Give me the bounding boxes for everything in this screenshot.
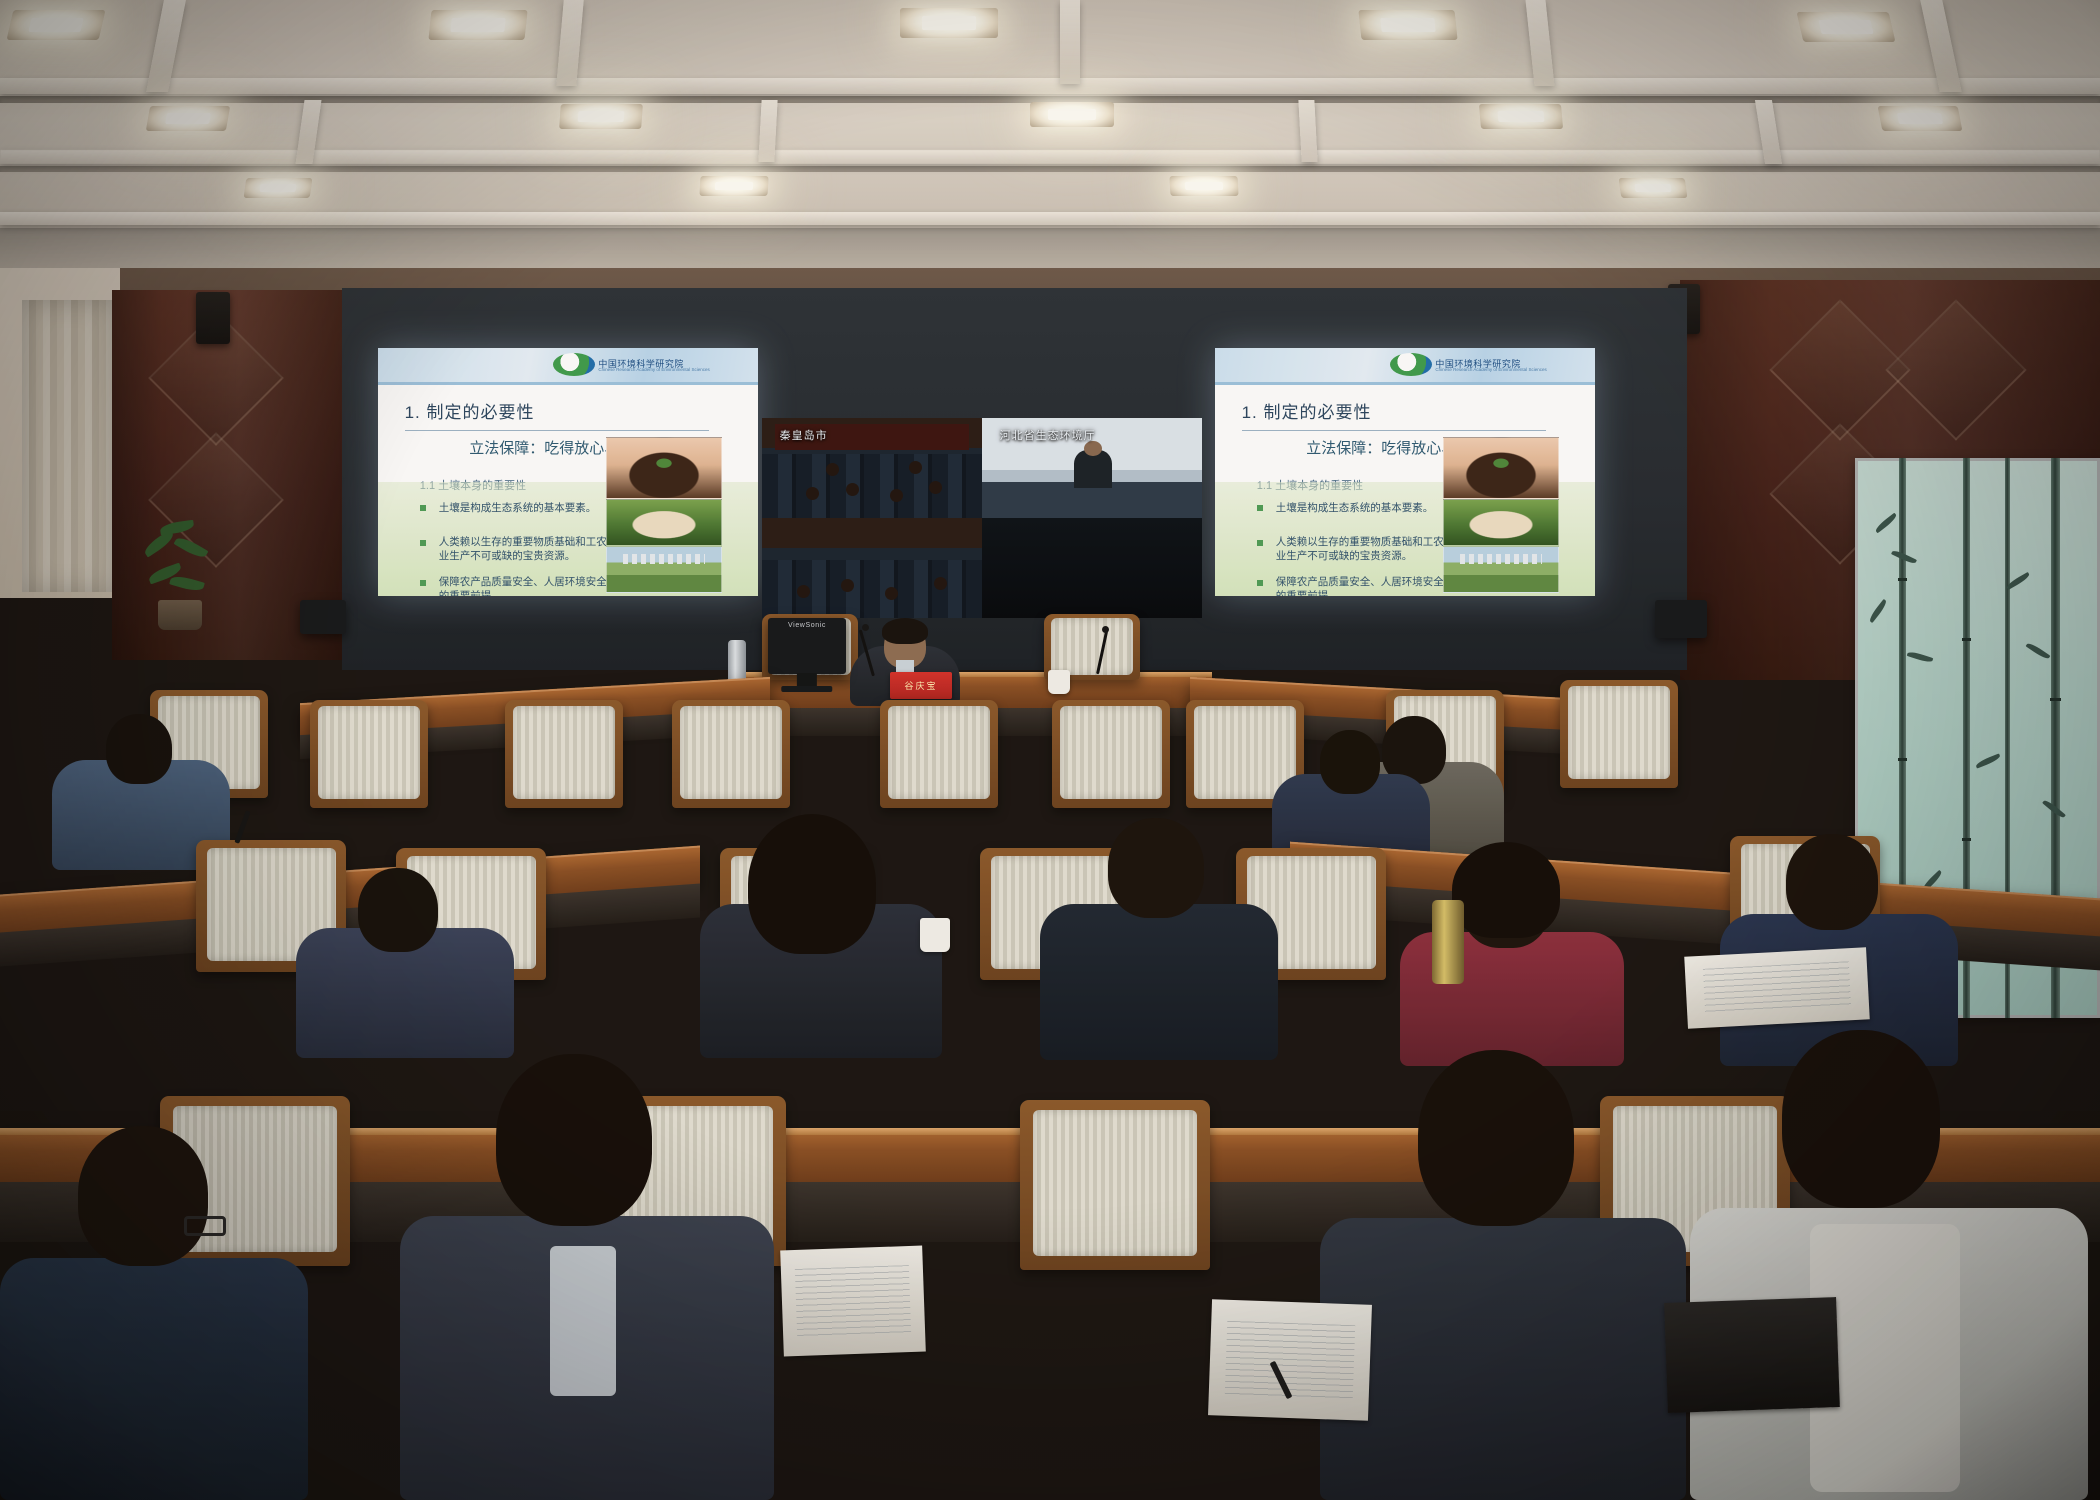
- slide-bullet-marker: [420, 505, 426, 511]
- thermos-bottle: [1432, 900, 1464, 984]
- nameplate-text: 谷庆宝: [904, 679, 937, 692]
- ceiling-light: [1030, 102, 1114, 127]
- ceiling-light: [428, 10, 527, 40]
- remote-meeting-view: [762, 518, 982, 618]
- ceiling-rib: [1298, 100, 1317, 162]
- remote-speaker-head: [1084, 441, 1102, 456]
- bamboo-leaf: [1907, 650, 1934, 664]
- conference-room-photo: 中国环境科学研究院 Chinese Research Academy of En…: [0, 0, 2100, 1500]
- water-cup: [920, 918, 950, 952]
- slide-image-soil-seedling: [1443, 437, 1559, 499]
- attendee-chair[interactable]: [880, 700, 998, 808]
- video-tile[interactable]: 秦皇岛市: [762, 418, 982, 518]
- bamboo-node: [1898, 578, 1907, 581]
- slide-bullet-marker: [1257, 505, 1263, 511]
- slide-image-hands-grain: [1443, 499, 1559, 546]
- ceiling-rib: [1060, 0, 1080, 84]
- video-tile-label: 河北省生态环境厅: [1000, 427, 1096, 443]
- academy-logo-subtext: Chinese Research Academy of Environmenta…: [1435, 367, 1546, 372]
- video-tile[interactable]: [762, 518, 982, 618]
- attendee-chair[interactable]: [1052, 700, 1170, 808]
- ceiling-rib: [758, 100, 777, 162]
- attendee-chair[interactable]: [672, 700, 790, 808]
- bamboo-node: [2050, 698, 2061, 701]
- ceiling-light: [699, 176, 768, 196]
- bamboo-node: [1962, 638, 1971, 641]
- slide-bullet-text: 土壤是构成生态系统的基本要素。: [439, 502, 614, 515]
- ceiling-light: [1797, 12, 1896, 42]
- attendee: [400, 1040, 776, 1500]
- notebook[interactable]: [780, 1246, 926, 1357]
- slide-left: 中国环境科学研究院 Chinese Research Academy of En…: [378, 348, 758, 596]
- attendee-head: [1418, 1050, 1574, 1226]
- remote-attendee-head: [846, 483, 859, 496]
- wall-monitor-right: [1655, 600, 1707, 638]
- slide-title: 1. 制定的必要性: [1242, 398, 1372, 423]
- plant-pot: [158, 600, 202, 630]
- slide-title: 1. 制定的必要性: [405, 398, 535, 423]
- slide-bullet-text: 保障农产品质量安全、人居环境安全的重要前提。: [439, 576, 614, 596]
- notebook[interactable]: [1684, 947, 1870, 1028]
- microphone-head-icon: [1102, 626, 1109, 633]
- attendee-hair: [1452, 842, 1560, 938]
- slide-bullet-text: 保障农产品质量安全、人居环境安全的重要前提。: [1276, 576, 1451, 596]
- ceiling-light: [1479, 104, 1563, 129]
- bamboo-leaf: [1874, 513, 1898, 534]
- attendee-head: [1320, 730, 1380, 794]
- ceiling-beam: [0, 78, 2100, 94]
- attendee-body: [0, 1258, 308, 1500]
- academy-logo-subtext: Chinese Research Academy of Environmenta…: [598, 367, 709, 372]
- bamboo-leaf: [1975, 753, 2001, 768]
- attendee-chair[interactable]: [1560, 680, 1678, 788]
- slide-bullet-text: 人类赖以生存的重要物质基础和工农业生产不可或缺的宝贵资源。: [439, 536, 614, 563]
- attendee-head: [1786, 834, 1878, 930]
- attendee-head: [1108, 818, 1204, 918]
- attendee: [1040, 800, 1280, 1060]
- attendee-head: [106, 714, 172, 784]
- attendee-head: [1782, 1030, 1940, 1208]
- video-tile-label: 秦皇岛市: [780, 427, 828, 443]
- wall-monitor-left: [300, 600, 346, 634]
- bamboo-leaf: [1868, 599, 1889, 623]
- attendee-head: [358, 868, 438, 952]
- slide-header-band: 中国环境科学研究院 Chinese Research Academy of En…: [1215, 348, 1595, 385]
- attendee: [0, 1108, 310, 1500]
- ceiling-light: [559, 104, 643, 129]
- attendee: [700, 808, 944, 1058]
- slide-bullet-marker: [420, 580, 426, 586]
- ceiling-light: [146, 106, 230, 131]
- attendee: [296, 858, 516, 1058]
- plant-leaf: [174, 534, 209, 561]
- academy-logo-icon: [1390, 353, 1432, 376]
- ceiling-speaker-left: [196, 292, 230, 344]
- attendee-chair[interactable]: [1020, 1100, 1210, 1270]
- ceiling-light: [1169, 176, 1238, 196]
- attendee-head: [496, 1054, 652, 1226]
- bamboo-node: [1898, 758, 1907, 761]
- remote-dark-view: [982, 518, 1202, 618]
- potted-plant: [140, 520, 220, 630]
- remote-audience-seats: [762, 454, 982, 518]
- slide-right: 中国环境科学研究院 Chinese Research Academy of En…: [1215, 348, 1595, 596]
- video-conference-wall: 秦皇岛市 河北省生态环境厅: [762, 418, 1202, 618]
- presenter-hair: [882, 618, 928, 644]
- academy-logo-icon: [553, 353, 595, 376]
- ceiling-beam: [0, 150, 2100, 164]
- bamboo-leaf: [2026, 641, 2051, 661]
- presenter-monitor[interactable]: ViewSonic: [768, 618, 846, 674]
- slide-divider: [405, 430, 709, 431]
- bamboo-node: [1962, 838, 1971, 841]
- notebook[interactable]: [1208, 1299, 1372, 1421]
- ceiling-light: [1619, 178, 1688, 198]
- monitor-stand: [797, 673, 817, 687]
- presenter-nameplate: 谷庆宝: [890, 672, 952, 699]
- attendee-long-hair: [748, 814, 876, 954]
- eyeglasses-icon: [184, 1216, 226, 1236]
- slide-image-hands-grain: [606, 499, 722, 546]
- attendee: [1320, 1038, 1688, 1500]
- pen-icon[interactable]: [234, 810, 250, 844]
- slide-divider: [1242, 430, 1546, 431]
- plant-leaf: [159, 520, 194, 536]
- attendee-chair[interactable]: [310, 700, 428, 808]
- ceiling-light: [7, 10, 106, 40]
- attendee-chair[interactable]: [505, 700, 623, 808]
- slide-image-soil-seedling: [606, 437, 722, 499]
- ceiling-light: [900, 8, 998, 38]
- notebook[interactable]: [1664, 1297, 1840, 1413]
- slide-image-green-city: [1443, 546, 1559, 593]
- ceiling-beam: [0, 212, 2100, 225]
- slide-header-band: 中国环境科学研究院 Chinese Research Academy of En…: [378, 348, 758, 385]
- monitor-base: [781, 686, 832, 692]
- ceiling-light: [1358, 10, 1457, 40]
- monitor-brand-label: ViewSonic: [788, 622, 826, 629]
- video-tile[interactable]: 河北省生态环境厅: [982, 418, 1202, 518]
- attendee: [1690, 1018, 2090, 1500]
- ceiling-slot: [0, 166, 2100, 172]
- projection-screen-right: 中国环境科学研究院 Chinese Research Academy of En…: [1215, 348, 1595, 596]
- slide-image-green-city: [606, 546, 722, 593]
- ceiling-light: [244, 178, 313, 198]
- window-curtain: [22, 300, 114, 592]
- projection-screen-left: 中国环境科学研究院 Chinese Research Academy of En…: [378, 348, 758, 596]
- slide-bullet-text: 土壤是构成生态系统的基本要素。: [1276, 502, 1451, 515]
- plant-leaf: [169, 574, 205, 594]
- remote-attendee-head: [934, 577, 947, 590]
- attendee-body: [1040, 904, 1278, 1060]
- attendee-body: [1320, 1218, 1686, 1500]
- coffee-mug: [1048, 670, 1070, 694]
- microphone-head-icon: [862, 624, 869, 631]
- slide-bullet-text: 人类赖以生存的重要物质基础和工农业生产不可或缺的宝贵资源。: [1276, 536, 1451, 563]
- remote-attendee-head: [890, 489, 903, 502]
- slide-bullet-marker: [1257, 540, 1263, 546]
- ceiling-light: [1878, 106, 1963, 131]
- attendee-shirt: [550, 1246, 616, 1396]
- video-tile[interactable]: [982, 518, 1202, 618]
- slide-bullet-marker: [1257, 580, 1263, 586]
- slide-bullet-marker: [420, 540, 426, 546]
- attendee-head: [78, 1126, 208, 1266]
- remote-attendee-head: [826, 463, 839, 476]
- remote-attendee-head: [806, 487, 819, 500]
